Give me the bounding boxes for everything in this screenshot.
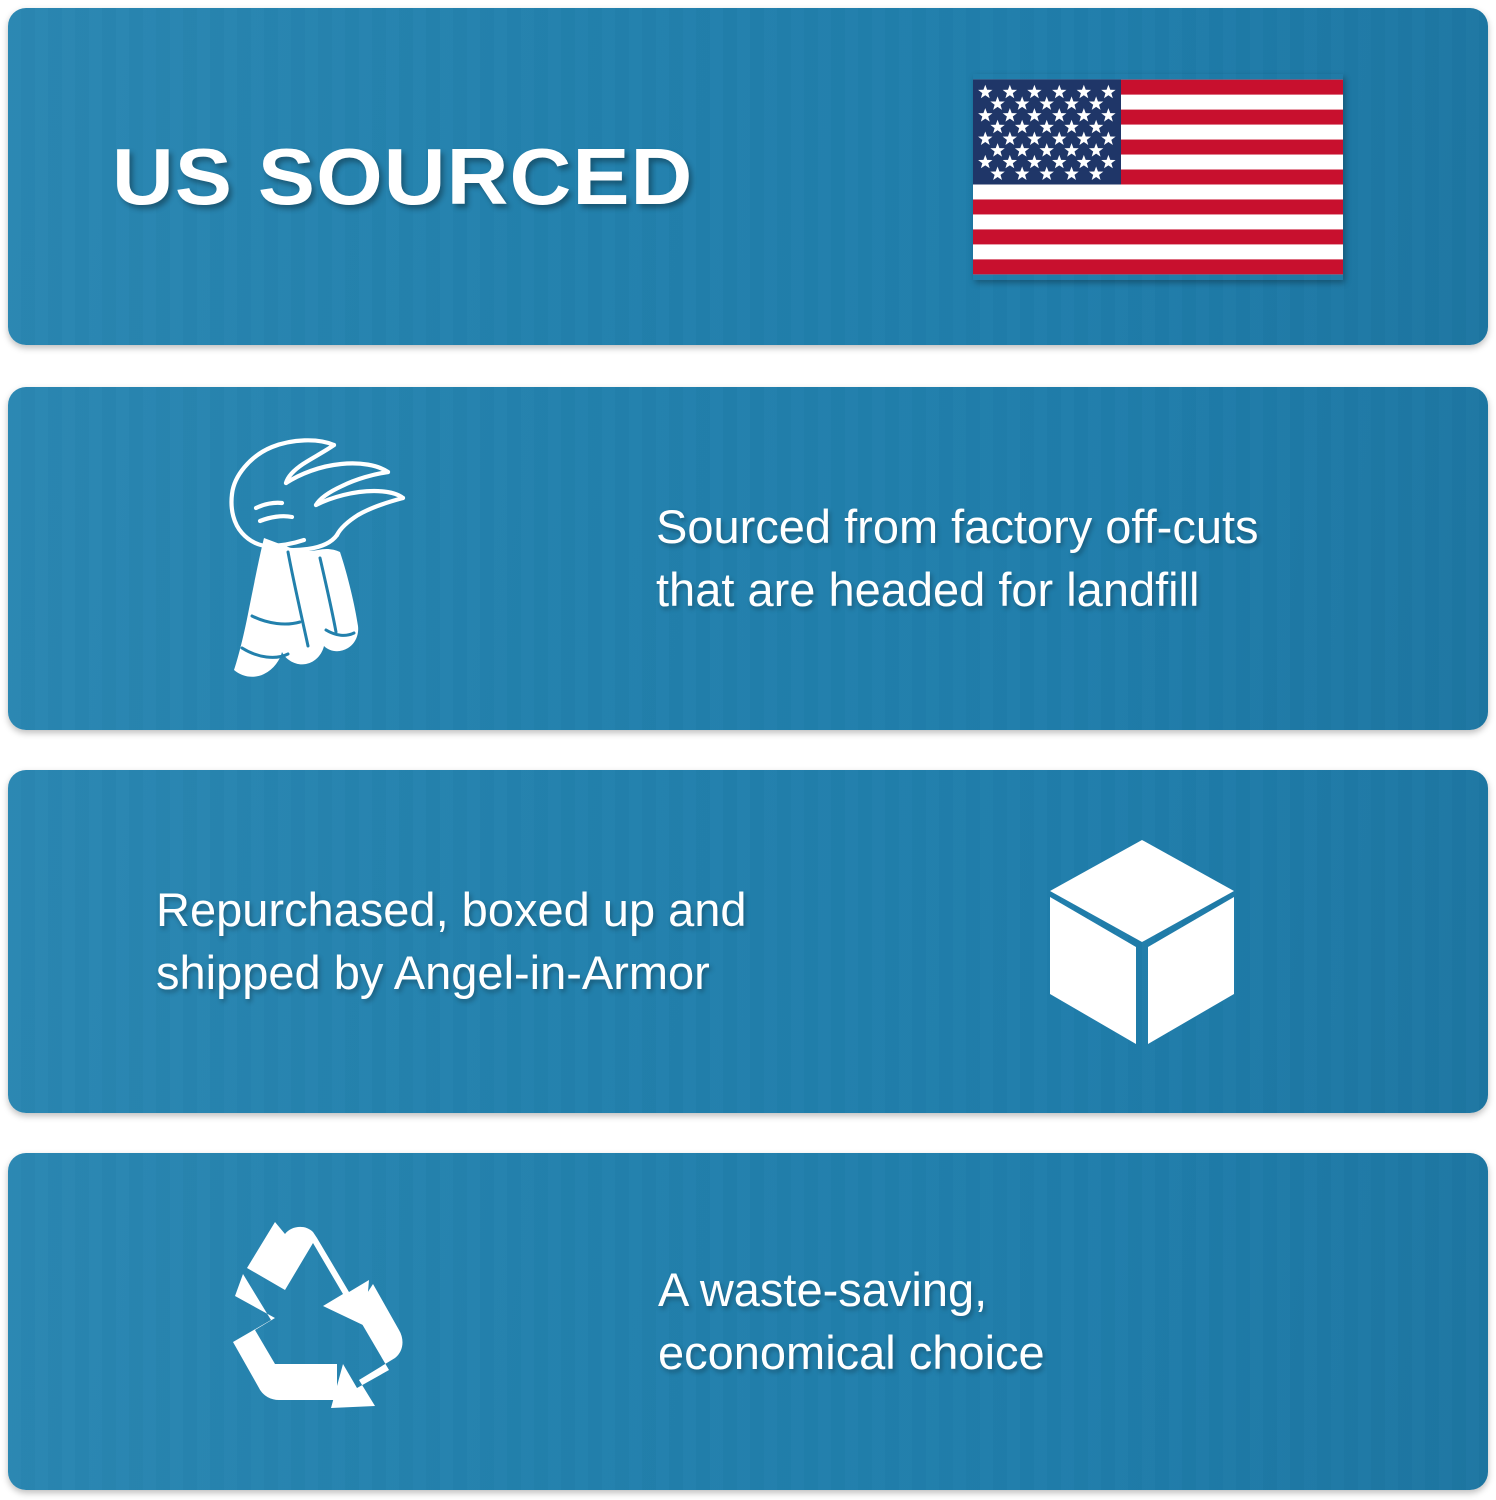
card-factory-offcuts-text: Sourced from factory off-cuts that are h… <box>656 496 1259 621</box>
infographic-page: US SOURCED <box>0 0 1496 1500</box>
card-waste-saving-text: A waste-saving, economical choice <box>658 1259 1045 1384</box>
card-factory-offcuts: Sourced from factory off-cuts that are h… <box>8 387 1488 730</box>
card-row: A waste-saving, economical choice <box>8 1153 1488 1490</box>
card-repurchased-shipped-content: Repurchased, boxed up and shipped by Ang… <box>8 770 1488 1113</box>
card-us-sourced-content: US SOURCED <box>8 8 1488 345</box>
card-repurchased-shipped: Repurchased, boxed up and shipped by Ang… <box>8 770 1488 1113</box>
card-row: Sourced from factory off-cuts that are h… <box>8 387 1488 730</box>
card-waste-saving: A waste-saving, economical choice <box>8 1153 1488 1490</box>
card-waste-saving-content: A waste-saving, economical choice <box>8 1153 1488 1490</box>
page-title: US SOURCED <box>112 137 655 217</box>
card-repurchased-shipped-text: Repurchased, boxed up and shipped by Ang… <box>156 879 747 1004</box>
card-us-sourced: US SOURCED <box>8 8 1488 345</box>
hand-holding-fabric-icon <box>204 434 436 684</box>
shipping-box-icon <box>1042 836 1242 1048</box>
page-title-text: US SOURCED <box>112 137 693 217</box>
card-row: Repurchased, boxed up and shipped by Ang… <box>8 770 1488 1113</box>
card-factory-offcuts-content: Sourced from factory off-cuts that are h… <box>8 387 1488 730</box>
us-flag-icon <box>973 74 1343 280</box>
recycle-icon <box>208 1222 430 1422</box>
